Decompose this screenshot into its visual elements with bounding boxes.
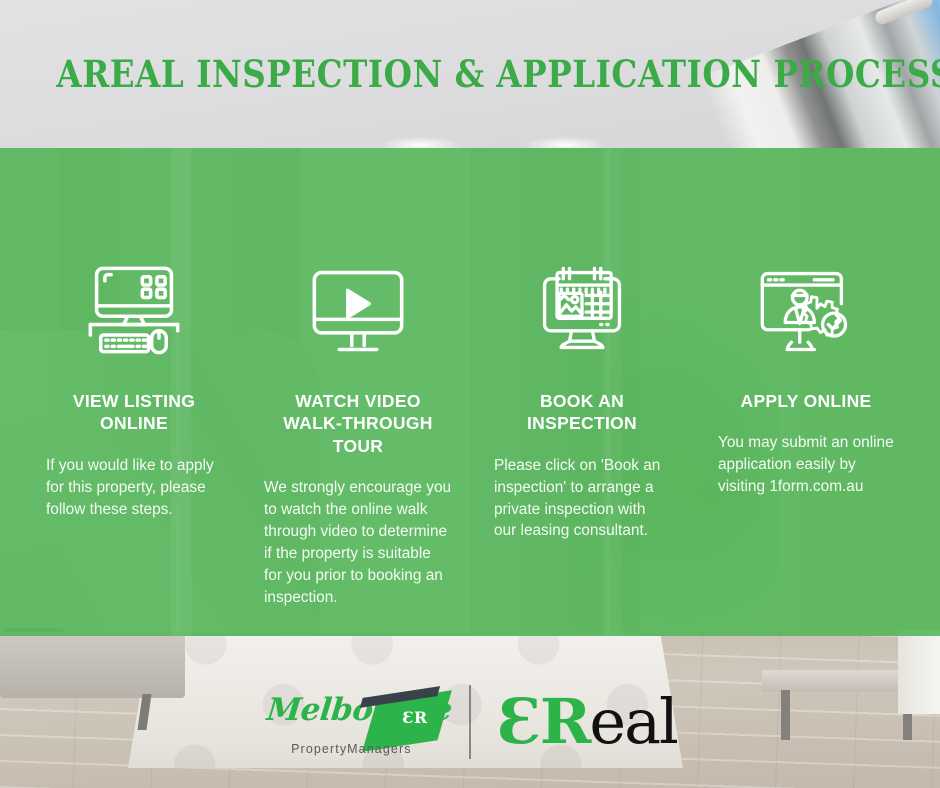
property-managers-subtitle: PropertyManagers [291,742,411,756]
inspection-process-poster: AREAL INSPECTION & APPLICATION PROCESS [0,0,940,788]
step-heading: BOOK AN INSPECTION [491,390,673,435]
melbourne-property-managers-logo[interactable]: Melbourne ƐR PropertyManagers [263,684,443,760]
process-steps: VIEW LISTING ONLINE If you would like to… [0,148,940,636]
step-heading: VIEW LISTING ONLINE [43,390,225,435]
page-title: AREAL INSPECTION & APPLICATION PROCESS [56,52,883,96]
step-heading: WATCH VIDEO WALK-THROUGH TOUR [264,390,452,457]
areal-logo[interactable]: ƐReal [497,693,677,752]
step-book-an-inspection: BOOK AN INSPECTION Please click on 'Book… [470,148,694,636]
roof-monogram: ƐR [402,708,427,727]
logo-divider [469,685,471,759]
areal-logo-prefix: ƐR [497,685,589,758]
areal-logo-suffix: eal [589,685,676,758]
step-body: Please click on 'Book an inspection' to … [494,455,670,543]
step-watch-video-walkthrough: WATCH VIDEO WALK-THROUGH TOUR We strongl… [246,148,470,636]
step-body: We strongly encourage you to watch the o… [264,477,452,608]
step-apply-online: APPLY ONLINE You may submit an online ap… [694,148,918,636]
footer-logos: Melbourne ƐR PropertyManagers ƐReal [0,684,940,760]
step-view-listing-online: VIEW LISTING ONLINE If you would like to… [22,148,246,636]
step-heading: APPLY ONLINE [715,390,897,412]
monitor-calendar-photo-icon [530,258,634,362]
monitor-agent-gear-check-icon [754,258,858,362]
step-body: You may submit an online application eas… [718,432,894,498]
step-body: If you would like to apply for this prop… [46,455,222,521]
desktop-computer-keyboard-mouse-icon [82,258,186,362]
monitor-video-play-icon [306,258,410,362]
